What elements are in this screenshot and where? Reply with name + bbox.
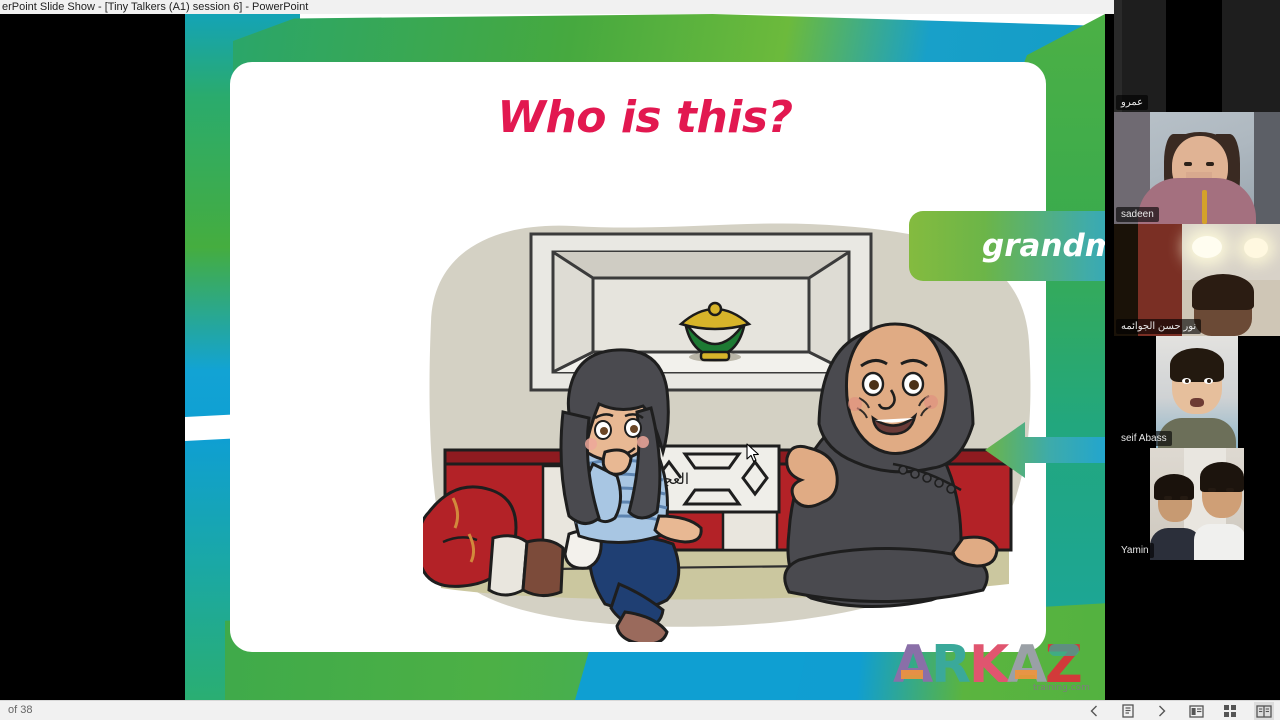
- window-title-bar: erPoint Slide Show - [Tiny Talkers (A1) …: [0, 0, 1114, 14]
- slide-counter: of 38: [8, 704, 32, 716]
- slide-title: Who is this?: [185, 92, 1105, 143]
- svg-text:A: A: [893, 635, 933, 694]
- mouse-cursor: [746, 443, 760, 463]
- window-title-text: erPoint Slide Show - [Tiny Talkers (A1) …: [2, 1, 308, 13]
- app-root: erPoint Slide Show - [Tiny Talkers (A1) …: [0, 0, 1280, 720]
- video-participants-panel[interactable]: عمرو sadeen نور حسن الجوائمه: [1114, 0, 1280, 700]
- participant-tile[interactable]: عمرو: [1114, 0, 1280, 112]
- participant-tile[interactable]: seif Abass: [1114, 336, 1280, 448]
- status-bar-buttons: [1084, 701, 1274, 720]
- participant-name: Yamin: [1116, 543, 1154, 558]
- vocabulary-chip: grandma: [909, 211, 1105, 281]
- participant-tile[interactable]: نور حسن الجوائمه: [1114, 224, 1280, 336]
- slideshow-stage[interactable]: Who is this?: [0, 14, 1114, 700]
- svg-text:training.com: training.com: [1033, 683, 1090, 693]
- status-bar: of 38: [0, 700, 1280, 720]
- previous-slide-button[interactable]: [1084, 702, 1104, 720]
- svg-text:R: R: [931, 635, 971, 694]
- participant-tile[interactable]: Yamin: [1114, 448, 1280, 560]
- reading-view-button[interactable]: [1254, 702, 1274, 720]
- arkaz-logo: A R K A Z training.com: [893, 632, 1093, 694]
- next-slide-button[interactable]: [1152, 702, 1172, 720]
- notes-button[interactable]: [1118, 702, 1138, 720]
- participant-name: عمرو: [1116, 95, 1148, 110]
- slide-sorter-button[interactable]: [1220, 702, 1240, 720]
- svg-text:K: K: [969, 635, 1011, 694]
- pointer-arrow-icon: [985, 419, 1105, 481]
- participant-name: نور حسن الجوائمه: [1116, 319, 1201, 334]
- slide-canvas[interactable]: Who is this?: [185, 14, 1105, 700]
- participant-name: seif Abass: [1116, 431, 1172, 446]
- participant-name: sadeen: [1116, 207, 1159, 222]
- participant-tile[interactable]: sadeen: [1114, 112, 1280, 224]
- vocabulary-chip-label: grandma: [982, 228, 1105, 264]
- normal-view-button[interactable]: [1186, 702, 1206, 720]
